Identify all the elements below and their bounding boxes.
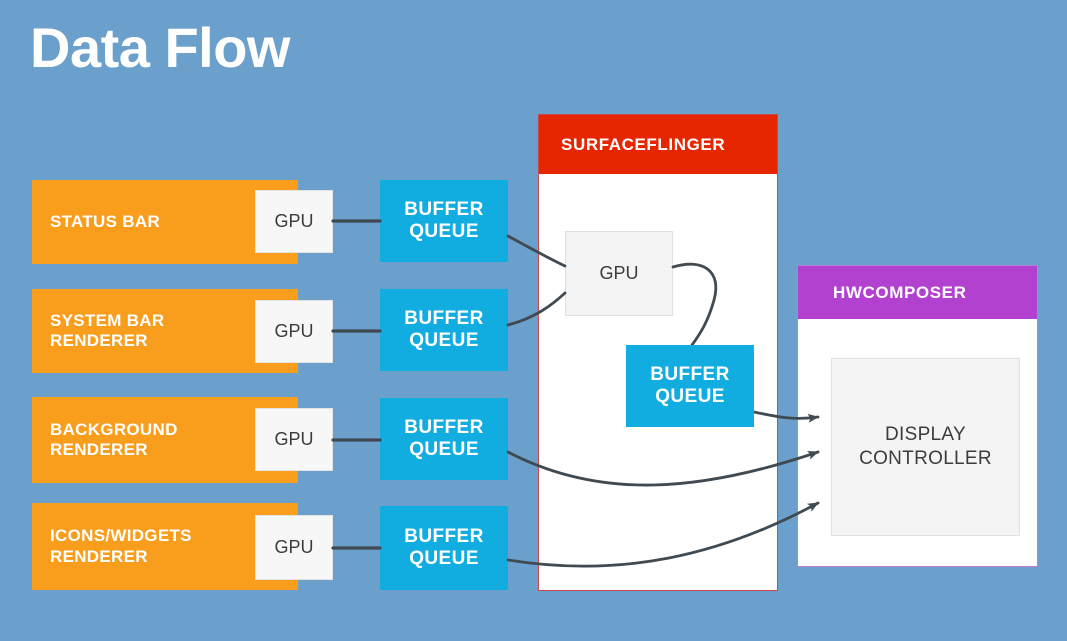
surfaceflinger-header: SURFACEFLINGER xyxy=(539,115,777,174)
gpu-tab-label: GPU xyxy=(274,321,313,342)
display-controller-label-line2: CONTROLLER xyxy=(859,447,992,471)
gpu-tab-icons-widgets[interactable]: GPU xyxy=(255,515,333,580)
renderer-label: SYSTEM BAR RENDERER xyxy=(50,311,164,352)
buffer-queue-label-line1: BUFFER xyxy=(404,526,483,548)
gpu-tab-label: GPU xyxy=(274,211,313,232)
buffer-queue-icons-widgets[interactable]: BUFFER QUEUE xyxy=(380,506,508,590)
surfaceflinger-gpu-label: GPU xyxy=(599,262,638,285)
gpu-tab-status-bar[interactable]: GPU xyxy=(255,190,333,253)
buffer-queue-label-line1: BUFFER xyxy=(404,199,483,221)
hwcomposer-header: HWCOMPOSER xyxy=(798,266,1037,319)
surfaceflinger-buffer-queue[interactable]: BUFFER QUEUE xyxy=(626,345,754,427)
buffer-queue-label-line2: QUEUE xyxy=(409,439,479,461)
display-controller-box[interactable]: DISPLAY CONTROLLER xyxy=(831,358,1020,536)
buffer-queue-label-line2: QUEUE xyxy=(409,548,479,570)
renderer-label: ICONS/WIDGETS RENDERER xyxy=(50,526,192,567)
buffer-queue-label-line1: BUFFER xyxy=(404,308,483,330)
buffer-queue-label-line1: BUFFER xyxy=(650,364,729,386)
buffer-queue-label-line2: QUEUE xyxy=(409,221,479,243)
buffer-queue-label-line2: QUEUE xyxy=(655,386,725,408)
display-controller-label-line1: DISPLAY xyxy=(885,423,966,447)
gpu-tab-background[interactable]: GPU xyxy=(255,408,333,471)
buffer-queue-label-line1: BUFFER xyxy=(404,417,483,439)
buffer-queue-background[interactable]: BUFFER QUEUE xyxy=(380,398,508,480)
gpu-tab-system-bar[interactable]: GPU xyxy=(255,300,333,363)
gpu-tab-label: GPU xyxy=(274,537,313,558)
diagram-canvas: Data Flow SURFACEFLINGER HWCOMPOSER xyxy=(0,0,1067,641)
renderer-label: BACKGROUND RENDERER xyxy=(50,420,178,461)
renderer-label: STATUS BAR xyxy=(50,212,160,232)
surfaceflinger-gpu-box[interactable]: GPU xyxy=(565,231,673,316)
page-title: Data Flow xyxy=(30,16,290,80)
buffer-queue-label-line2: QUEUE xyxy=(409,330,479,352)
gpu-tab-label: GPU xyxy=(274,429,313,450)
buffer-queue-status-bar[interactable]: BUFFER QUEUE xyxy=(380,180,508,262)
buffer-queue-system-bar[interactable]: BUFFER QUEUE xyxy=(380,289,508,371)
